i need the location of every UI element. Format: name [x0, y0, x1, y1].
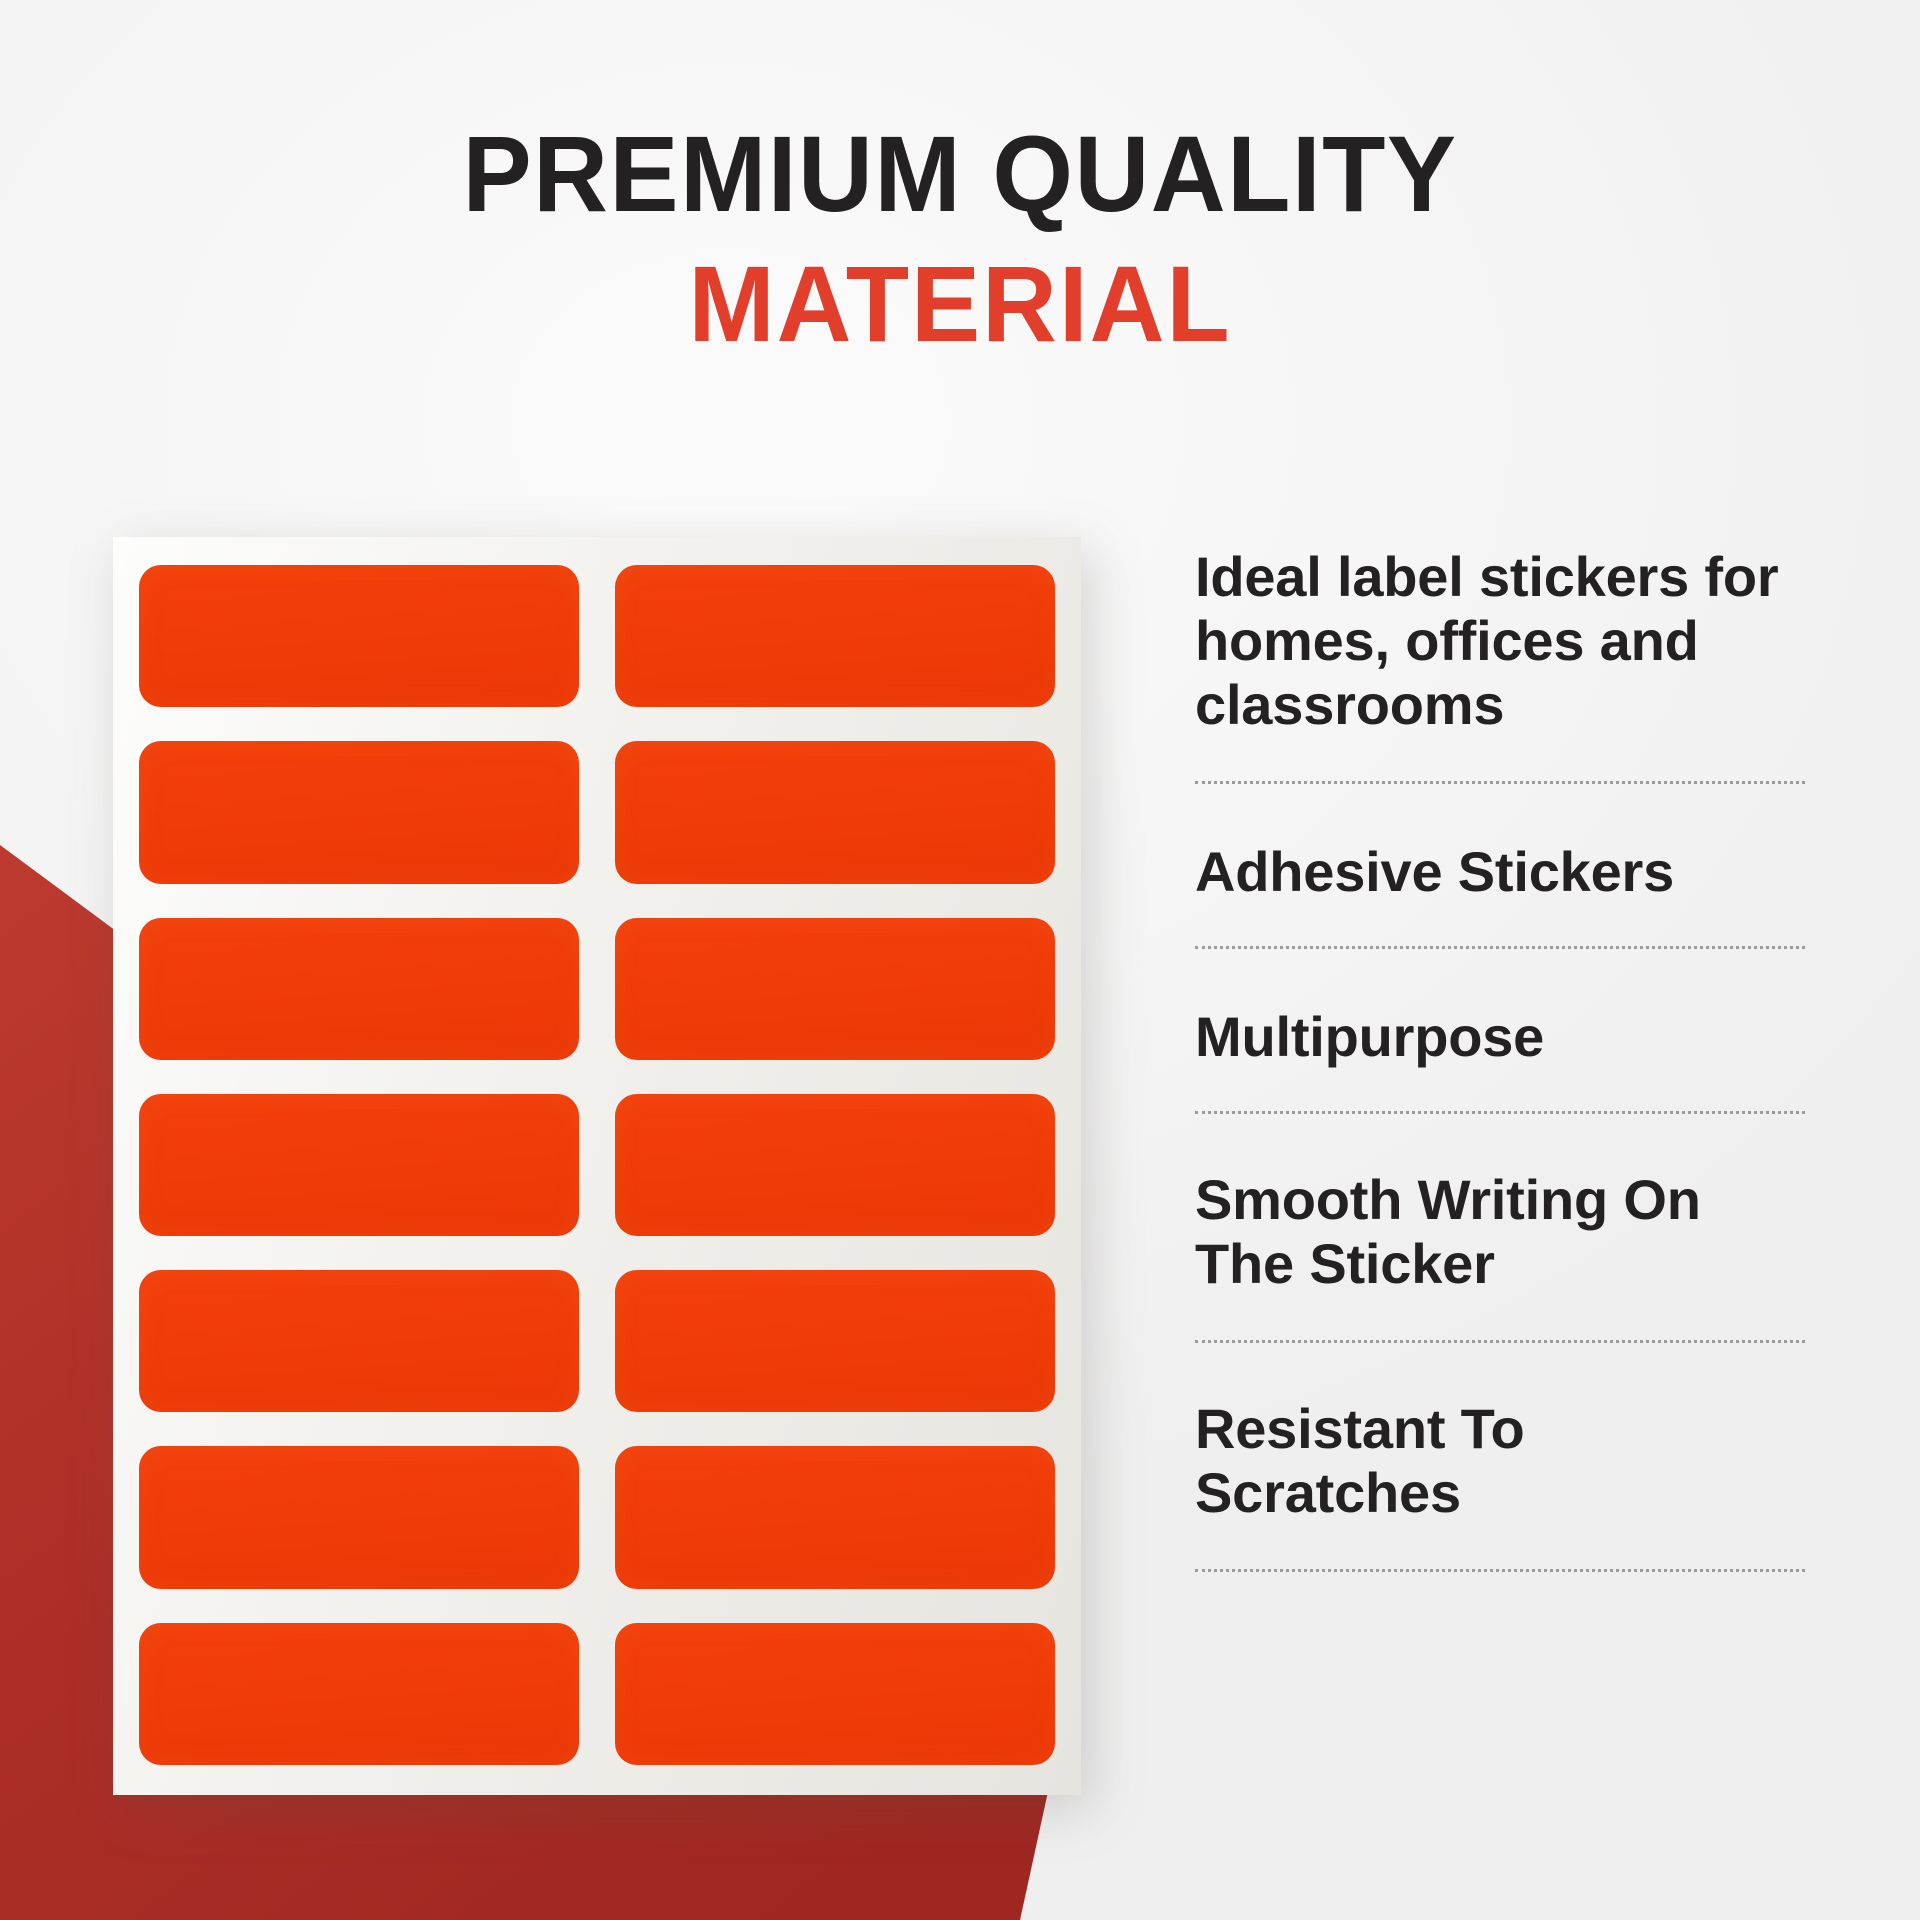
feature-label: Resistant To Scratches	[1195, 1397, 1805, 1525]
label-sticker	[139, 741, 579, 883]
label-sticker	[139, 1446, 579, 1588]
feature-divider	[1195, 781, 1805, 784]
label-sticker	[139, 565, 579, 707]
feature-divider	[1195, 1569, 1805, 1572]
feature-item-5: Resistant To Scratches	[1195, 1397, 1805, 1529]
label-sticker	[139, 918, 579, 1060]
feature-item-1: Ideal label stickers for homes, offices …	[1195, 545, 1805, 741]
feature-label: Multipurpose	[1195, 1005, 1805, 1069]
feature-item-4: Smooth Writing On The Sticker	[1195, 1168, 1805, 1300]
label-sticker	[615, 565, 1055, 707]
headline-line-1: PREMIUM QUALITY	[38, 120, 1881, 228]
label-sticker	[615, 1270, 1055, 1412]
feature-label: Adhesive Stickers	[1195, 840, 1805, 904]
feature-label: Smooth Writing On The Sticker	[1195, 1168, 1805, 1296]
feature-item-2: Adhesive Stickers	[1195, 840, 1805, 906]
feature-label: Ideal label stickers for homes, offices …	[1195, 545, 1805, 736]
feature-list: Ideal label stickers for homes, offices …	[1195, 545, 1805, 1572]
label-sticker	[139, 1623, 579, 1765]
label-sticker	[615, 1623, 1055, 1765]
label-sticker	[139, 1270, 579, 1412]
feature-divider	[1195, 946, 1805, 949]
feature-divider	[1195, 1111, 1805, 1114]
infographic-canvas: PREMIUM QUALITY MATERIAL Ideal label sti…	[0, 0, 1920, 1920]
page-title: PREMIUM QUALITY MATERIAL	[0, 120, 1920, 358]
label-sticker	[139, 1094, 579, 1236]
label-sticker	[615, 741, 1055, 883]
label-sticker	[615, 918, 1055, 1060]
label-sticker	[615, 1446, 1055, 1588]
feature-item-3: Multipurpose	[1195, 1005, 1805, 1071]
product-image-sticker-sheet	[113, 537, 1081, 1795]
headline-line-2-accent: MATERIAL	[38, 250, 1881, 358]
feature-divider	[1195, 1340, 1805, 1343]
sticker-sheet-backing	[113, 537, 1081, 1795]
label-sticker	[615, 1094, 1055, 1236]
